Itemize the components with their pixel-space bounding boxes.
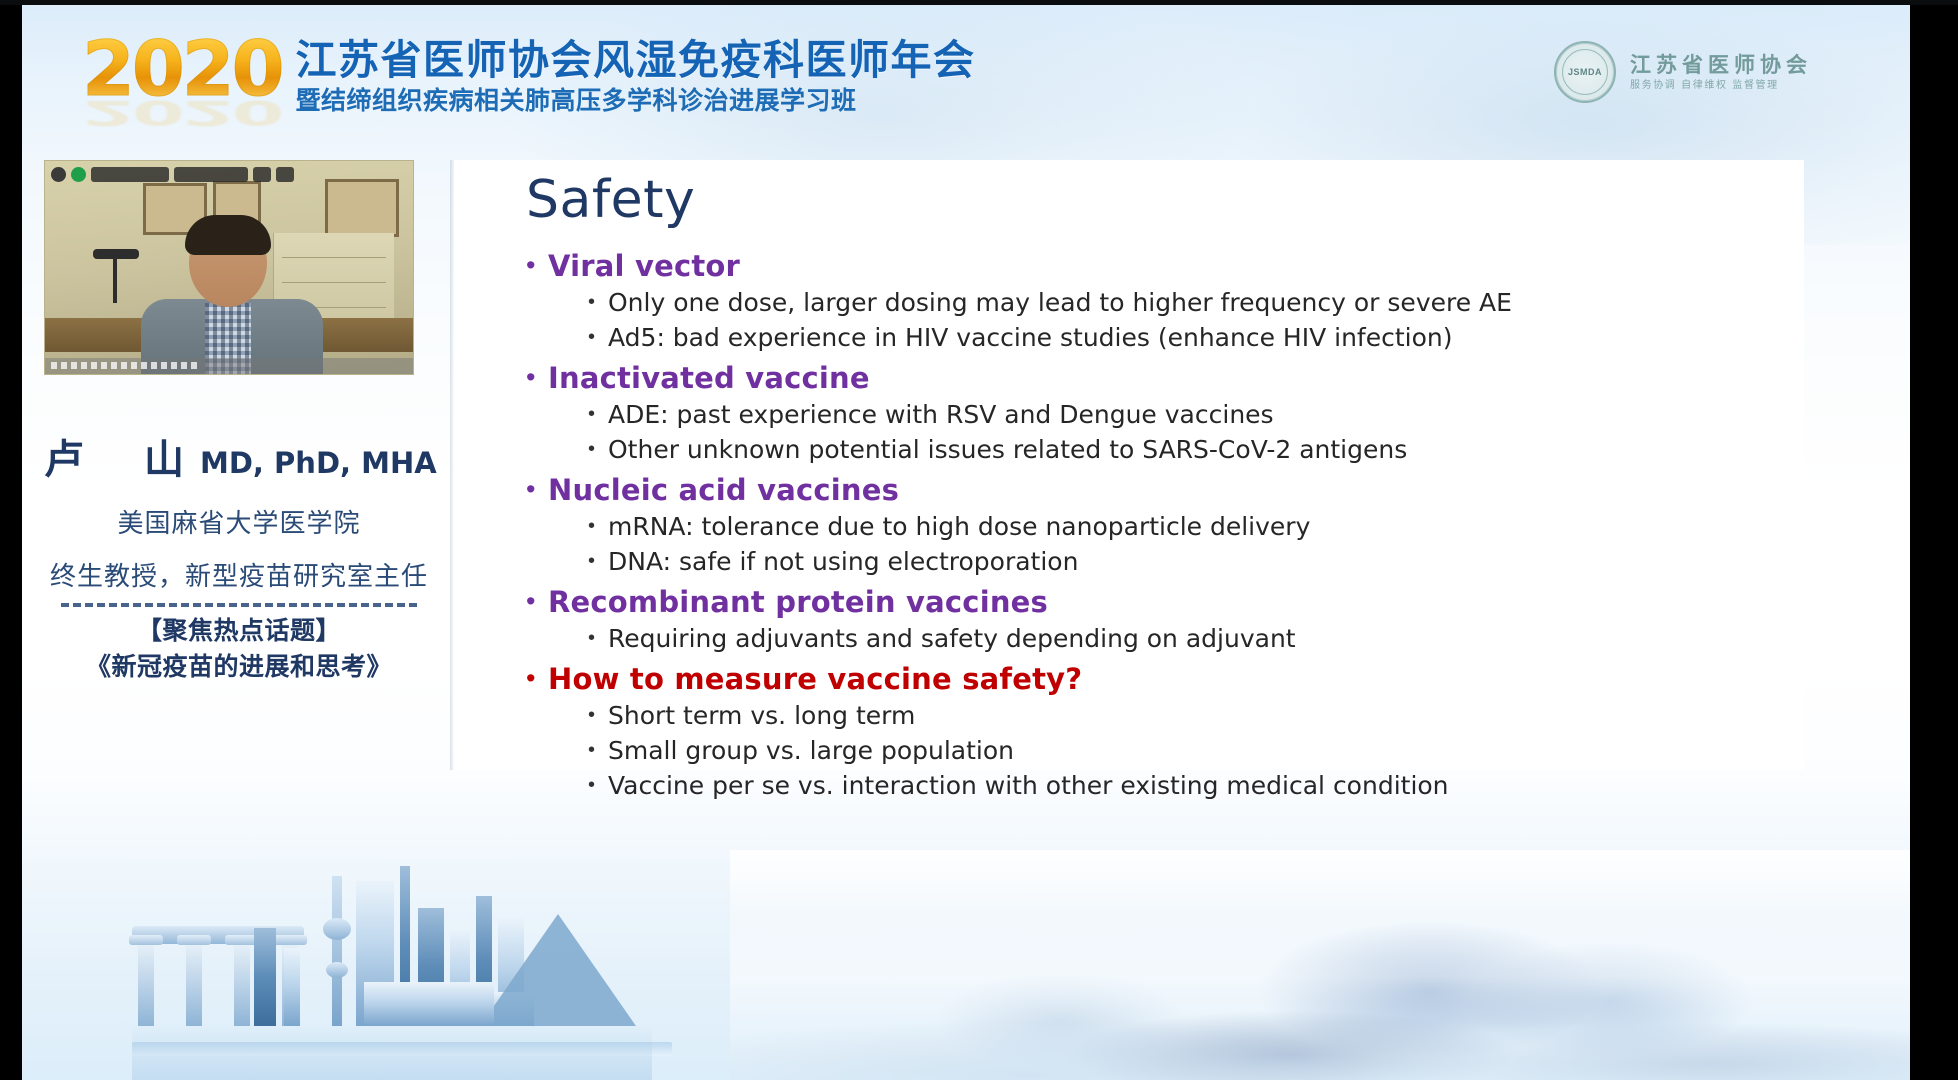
dashed-separator <box>61 603 417 607</box>
bullet-level2: • DNA: safe if not using electroporation <box>588 545 1776 578</box>
video-overlay-toolbar[interactable] <box>51 167 294 182</box>
bullet-level2-text: Only one dose, larger dosing may lead to… <box>608 286 1512 319</box>
bullet-level2-text: mRNA: tolerance due to high dose nanopar… <box>608 510 1310 543</box>
presentation-canvas: 2020 2020 江苏省医师协会风湿免疫科医师年会 暨结缔组织疾病相关肺高压多… <box>22 5 1910 1080</box>
bullet-level2-text: Short term vs. long term <box>608 699 915 732</box>
bullet-level2-text: DNA: safe if not using electroporation <box>608 545 1078 578</box>
speaker-credentials: MD, PhD, MHA <box>200 446 437 480</box>
bullet-marker-icon: • <box>588 769 608 802</box>
speaker-figure <box>141 219 323 375</box>
bullet-marker-icon: • <box>588 545 608 578</box>
bullet-level2-text: Vaccine per se vs. interaction with othe… <box>608 769 1449 802</box>
conference-title: 江苏省医师协会风湿免疫科医师年会 <box>296 37 976 83</box>
tv-tower <box>332 876 342 1026</box>
jsmda-seal-icon: JSMDA <box>1554 41 1616 103</box>
bullet-level2: • mRNA: tolerance due to high dose nanop… <box>588 510 1776 543</box>
slide-title: Safety <box>526 170 695 230</box>
organization-subtitle: 服务协调 自律维权 监督管理 <box>1630 80 1812 92</box>
desk-lamp <box>93 249 139 259</box>
bullet-marker-icon: • <box>588 510 608 543</box>
bullet-marker-icon: • <box>526 661 548 695</box>
pause-icon[interactable] <box>51 167 66 182</box>
bullet-marker-icon: • <box>588 321 608 354</box>
bullet-marker-icon: • <box>588 734 608 767</box>
bullet-level2-text: Other unknown potential issues related t… <box>608 433 1407 466</box>
bullet-level1: • Recombinant protein vaccines <box>526 584 1776 620</box>
bullet-marker-icon: • <box>588 398 608 431</box>
bullet-marker-icon: • <box>526 360 548 394</box>
bullet-level2: • Ad5: bad experience in HIV vaccine stu… <box>588 321 1776 354</box>
water-reflection-band <box>132 1042 672 1056</box>
record-icon[interactable] <box>71 167 86 182</box>
bullet-level2: • ADE: past experience with RSV and Deng… <box>588 398 1776 431</box>
bullet-level2: • Vaccine per se vs. interaction with ot… <box>588 769 1776 802</box>
speaker-name-row: 卢 山MD, PhD, MHA <box>44 427 434 485</box>
bullet-marker-icon: • <box>526 584 548 618</box>
bullet-level2: • Short term vs. long term <box>588 699 1776 732</box>
bullet-level2-text: ADE: past experience with RSV and Dengue… <box>608 398 1274 431</box>
mist-overlay <box>730 850 1910 1080</box>
bullet-marker-icon: • <box>588 699 608 732</box>
bullet-marker-icon: • <box>526 248 548 282</box>
bullet-level2: • Requiring adjuvants and safety dependi… <box>588 622 1776 655</box>
timer-status-chip[interactable] <box>174 167 248 182</box>
speaker-affiliation: 美国麻省大学医学院 <box>44 503 434 540</box>
bottom-decoration <box>22 830 1910 1080</box>
organization-logo: JSMDA 江苏省医师协会 服务协调 自律维权 监督管理 <box>1554 41 1812 103</box>
bullet-marker-icon: • <box>588 622 608 655</box>
broadcast-stage: 2020 2020 江苏省医师协会风湿免疫科医师年会 暨结缔组织疾病相关肺高压多… <box>0 0 1958 1080</box>
topic-title: 《新冠疫苗的进展和思考》 <box>44 649 434 685</box>
window-minimize-icon[interactable] <box>253 167 271 182</box>
conference-year: 2020 <box>82 33 296 105</box>
bullet-level2-text: Ad5: bad experience in HIV vaccine studi… <box>608 321 1452 354</box>
bullet-marker-icon: • <box>588 433 608 466</box>
conference-subtitle: 暨结缔组织疾病相关肺高压多学科诊治进展学习班 <box>296 85 976 117</box>
bullet-level1-label: Viral vector <box>548 248 740 284</box>
speaker-name-cn: 卢 山 <box>44 437 194 483</box>
window-maximize-icon[interactable] <box>276 167 294 182</box>
bullet-level1-highlight: • How to measure vaccine safety? <box>526 661 1776 697</box>
bullet-level1-label: How to measure vaccine safety? <box>548 661 1082 697</box>
speaker-video-feed[interactable] <box>44 160 414 375</box>
letterbox-right <box>1910 0 1958 1080</box>
memorial-gate <box>132 926 304 1026</box>
bullet-level1: • Nucleic acid vaccines <box>526 472 1776 508</box>
ink-wash-mountains <box>730 850 1910 1080</box>
speaker-position: 终生教授，新型疫苗研究室主任 <box>44 556 434 593</box>
mic-status-chip[interactable] <box>91 167 169 182</box>
slide-bullet-list: • Viral vector • Only one dose, larger d… <box>526 242 1776 802</box>
bullet-level1-label: Nucleic acid vaccines <box>548 472 899 508</box>
wall-picture-frame <box>325 179 399 237</box>
bullet-level2: • Small group vs. large population <box>588 734 1776 767</box>
video-caption-bar <box>45 358 413 374</box>
bullet-level1: • Viral vector <box>526 248 1776 284</box>
bullet-level1-label: Inactivated vaccine <box>548 360 870 396</box>
bullet-level1: • Inactivated vaccine <box>526 360 1776 396</box>
letterbox-top <box>0 0 1958 5</box>
pyramid-building <box>480 914 636 1026</box>
bullet-level2: • Other unknown potential issues related… <box>588 433 1776 466</box>
letterbox-left <box>0 0 22 1080</box>
bullet-level2-text: Small group vs. large population <box>608 734 1014 767</box>
bullet-marker-icon: • <box>588 286 608 319</box>
topic-label: 【聚焦热点话题】 <box>44 613 434 649</box>
skyline-reflection <box>132 1024 652 1080</box>
seal-text: JSMDA <box>1556 67 1614 77</box>
bullet-level2: • Only one dose, larger dosing may lead … <box>588 286 1776 319</box>
speaker-panel: 卢 山MD, PhD, MHA 美国麻省大学医学院 终生教授，新型疫苗研究室主任… <box>44 160 434 685</box>
bullet-level2-text: Requiring adjuvants and safety depending… <box>608 622 1296 655</box>
bullet-level1-label: Recombinant protein vaccines <box>548 584 1048 620</box>
bullet-marker-icon: • <box>526 472 548 506</box>
slide-content[interactable]: Safety • Viral vector • Only one dose, l… <box>454 160 1804 770</box>
organization-name: 江苏省医师协会 <box>1630 53 1812 77</box>
nanjing-skyline-illustration <box>132 877 652 1062</box>
